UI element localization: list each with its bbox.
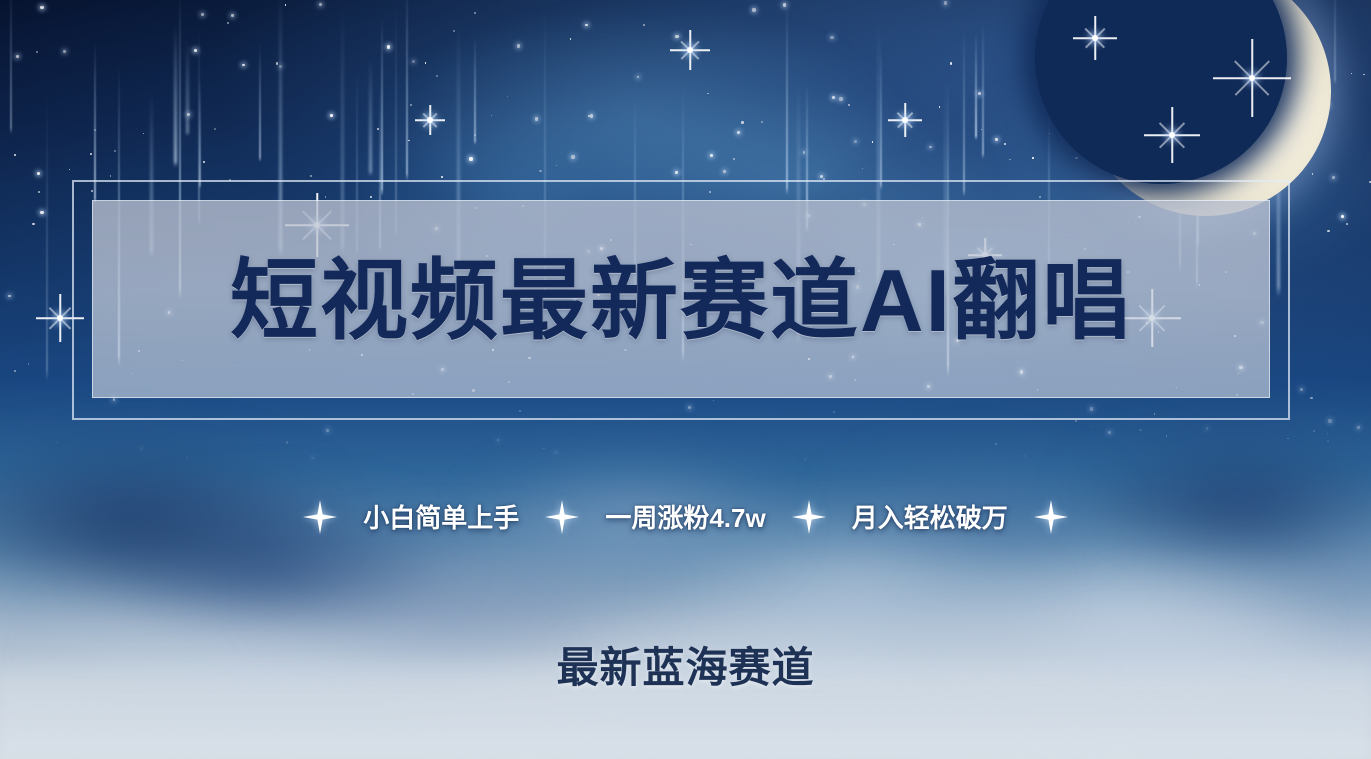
falling-light-streak-icon xyxy=(369,57,372,176)
star-icon xyxy=(279,65,282,68)
star-icon xyxy=(14,154,16,156)
star-icon xyxy=(1049,133,1050,134)
star-icon xyxy=(187,113,190,116)
star-icon xyxy=(820,175,823,178)
star-icon xyxy=(474,12,476,14)
star-icon xyxy=(203,161,204,162)
star-icon xyxy=(330,114,333,117)
four-point-star-icon xyxy=(792,500,826,534)
twinkle-star-icon xyxy=(670,30,710,70)
star-icon xyxy=(944,1,947,4)
star-icon xyxy=(588,115,590,117)
falling-light-streak-icon xyxy=(381,16,383,196)
feature-highlight-row: 小白简单上手 一周涨粉4.7w 月入轻松破万 xyxy=(0,498,1371,535)
feature-highlight-3: 月入轻松破万 xyxy=(852,498,1008,535)
star-icon xyxy=(1032,157,1034,159)
star-icon xyxy=(90,153,92,155)
star-icon xyxy=(38,191,40,193)
star-icon xyxy=(69,169,70,170)
falling-light-streak-icon xyxy=(259,43,261,162)
star-icon xyxy=(194,49,197,52)
tagline-text: 最新蓝海赛道 xyxy=(0,634,1371,695)
star-icon xyxy=(469,157,473,161)
star-icon xyxy=(675,171,678,174)
star-icon xyxy=(201,13,204,16)
star-icon xyxy=(40,211,44,215)
falling-light-streak-icon xyxy=(1334,0,1336,84)
star-icon xyxy=(783,3,786,6)
four-point-star-icon xyxy=(303,500,337,534)
star-icon xyxy=(436,75,438,77)
falling-light-streak-icon xyxy=(10,0,12,134)
star-icon xyxy=(40,6,43,9)
star-icon xyxy=(571,155,574,158)
twinkle-star-icon xyxy=(415,105,445,135)
falling-light-streak-icon xyxy=(982,19,984,159)
twinkle-star-icon xyxy=(1144,107,1200,163)
star-icon xyxy=(981,129,982,130)
star-icon xyxy=(1075,157,1078,160)
star-icon xyxy=(14,370,16,372)
star-icon xyxy=(16,55,19,58)
star-icon xyxy=(387,45,390,48)
falling-light-streak-icon xyxy=(174,24,177,167)
falling-light-streak-icon xyxy=(474,35,476,145)
star-icon xyxy=(491,115,492,116)
falling-light-streak-icon xyxy=(199,78,201,189)
star-icon xyxy=(848,104,850,106)
star-icon xyxy=(737,131,740,134)
feature-highlight-1: 小白简单上手 xyxy=(363,498,519,535)
poster-canvas: 短视频最新赛道AI翻唱 小白简单上手 一周涨粉4.7w 月入轻松破万 xyxy=(0,0,1371,759)
star-icon xyxy=(761,121,762,122)
star-icon xyxy=(939,106,941,108)
twinkle-star-icon xyxy=(1213,39,1291,117)
star-icon xyxy=(741,121,743,123)
twinkle-star-icon xyxy=(888,103,922,137)
star-icon xyxy=(752,8,755,11)
star-icon xyxy=(950,62,952,64)
twinkle-star-icon xyxy=(1073,16,1117,60)
star-icon xyxy=(590,114,593,117)
cloud-layer xyxy=(0,410,1371,759)
star-icon xyxy=(507,96,508,97)
falling-light-streak-icon xyxy=(963,27,965,197)
falling-light-streak-icon xyxy=(186,39,189,136)
falling-light-streak-icon xyxy=(786,0,788,195)
star-icon xyxy=(643,24,645,26)
star-icon xyxy=(377,128,379,130)
star-icon xyxy=(839,97,843,101)
star-icon xyxy=(862,168,863,169)
falling-light-streak-icon xyxy=(406,0,408,181)
star-icon xyxy=(830,36,833,39)
feature-highlight-2: 一周涨粉4.7w xyxy=(605,498,765,535)
four-point-star-icon xyxy=(545,500,579,534)
star-icon xyxy=(535,117,538,120)
star-icon xyxy=(110,175,111,176)
page-title: 短视频最新赛道AI翻唱 xyxy=(230,257,1132,345)
star-icon xyxy=(832,96,835,99)
title-panel: 短视频最新赛道AI翻唱 xyxy=(92,200,1270,398)
falling-light-streak-icon xyxy=(975,31,977,140)
four-point-star-icon xyxy=(1034,500,1068,534)
